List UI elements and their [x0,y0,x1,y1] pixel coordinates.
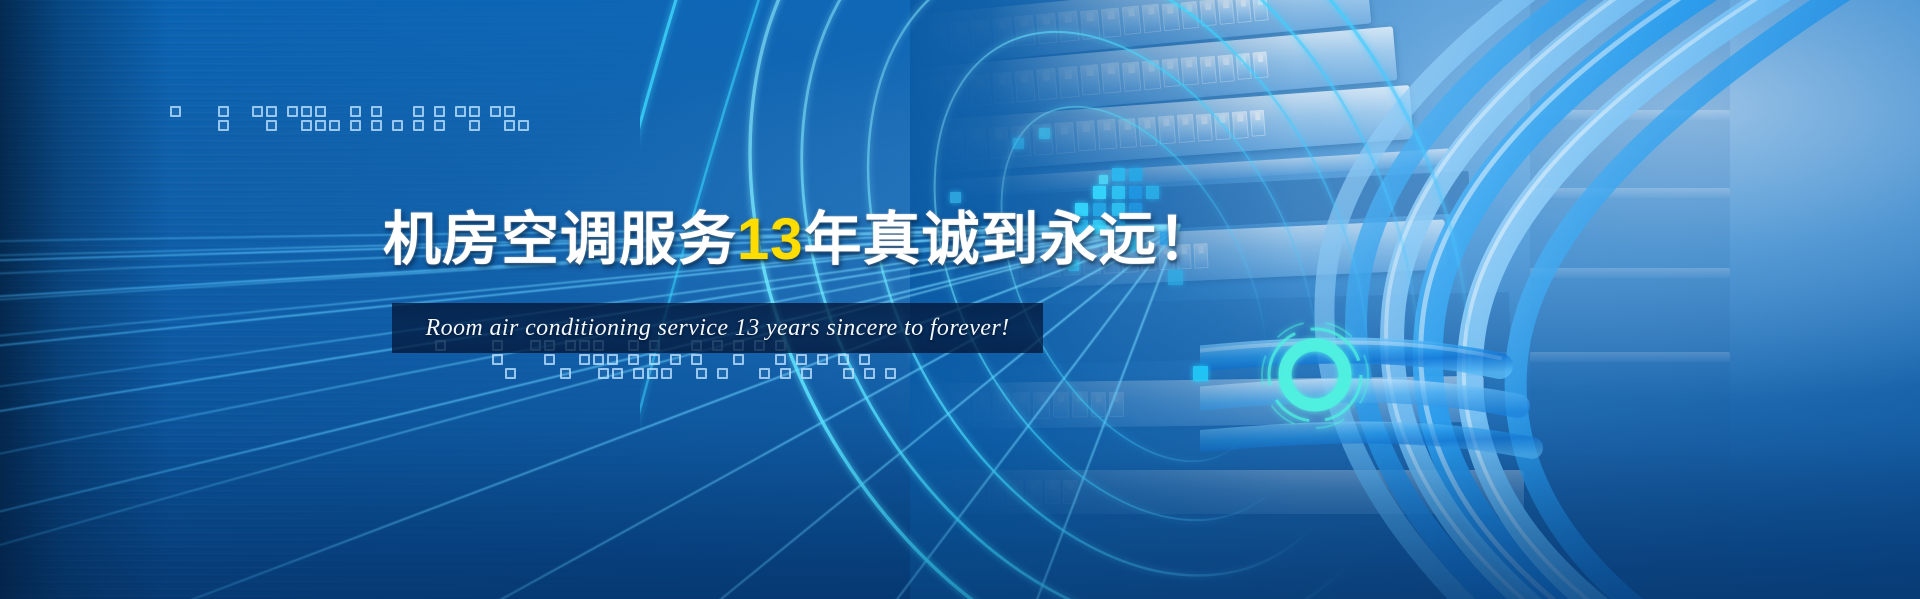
hollow-square [560,368,571,379]
hollow-square [633,368,644,379]
hollow-square [392,120,403,131]
promo-banner: 机房空调服务13年真诚到永远！ Room air conditioning se… [0,0,1920,599]
hollow-square [350,120,361,131]
hollow-square [329,120,340,131]
hollow-square [301,120,312,131]
hollow-square [607,354,618,365]
headline-highlight-number: 13 [737,207,804,272]
hollow-square [490,106,501,117]
hollow-square [287,106,298,117]
subtitle: Room air conditioning service 13 years s… [392,303,1043,353]
hollow-square [775,354,786,365]
hollow-square [628,354,639,365]
hollow-square [218,120,229,131]
hollow-square [504,120,515,131]
hollow-square [492,354,503,365]
hollow-square [780,368,791,379]
bottom-vignette [0,419,1920,599]
hollow-square [434,120,445,131]
hollow-square [838,354,849,365]
hollow-square [864,368,875,379]
hollow-square [315,106,326,117]
hollow-square [733,354,744,365]
hollow-square [505,368,516,379]
hollow-square [717,368,728,379]
hollow-square [266,120,277,131]
hollow-square [612,368,623,379]
hollow-square [649,354,660,365]
hollow-square [518,120,529,131]
hollow-square [434,106,445,117]
hollow-square [315,120,326,131]
hollow-square [252,106,263,117]
hollow-square [350,106,361,117]
hollow-square [670,354,681,365]
headline-part-1: 机房空调服务 [383,207,737,272]
hollow-square [691,354,702,365]
hollow-square [469,106,480,117]
hollow-square [593,354,604,365]
hollow-square [579,354,590,365]
hollow-square [801,368,812,379]
hollow-square [598,368,609,379]
hollow-square [469,120,480,131]
hollow-square [413,120,424,131]
hollow-square [759,368,770,379]
hollow-square [696,368,707,379]
hollow-square [170,106,181,117]
hollow-square [504,106,515,117]
hollow-square [301,106,312,117]
hollow-square [859,354,870,365]
hollow-square [796,354,807,365]
hollow-square [661,368,672,379]
hollow-square [647,368,658,379]
hollow-square [885,368,896,379]
hollow-square [843,368,854,379]
hollow-square [413,106,424,117]
hollow-square [218,106,229,117]
headline-part-2: 年真诚到永远！ [804,207,1217,272]
hollow-square [371,106,382,117]
hollow-square [266,106,277,117]
hollow-square [544,354,555,365]
page-title: 机房空调服务13年真诚到永远！ [383,211,1217,269]
hollow-square [455,106,466,117]
hollow-square [817,354,828,365]
hollow-square [371,120,382,131]
